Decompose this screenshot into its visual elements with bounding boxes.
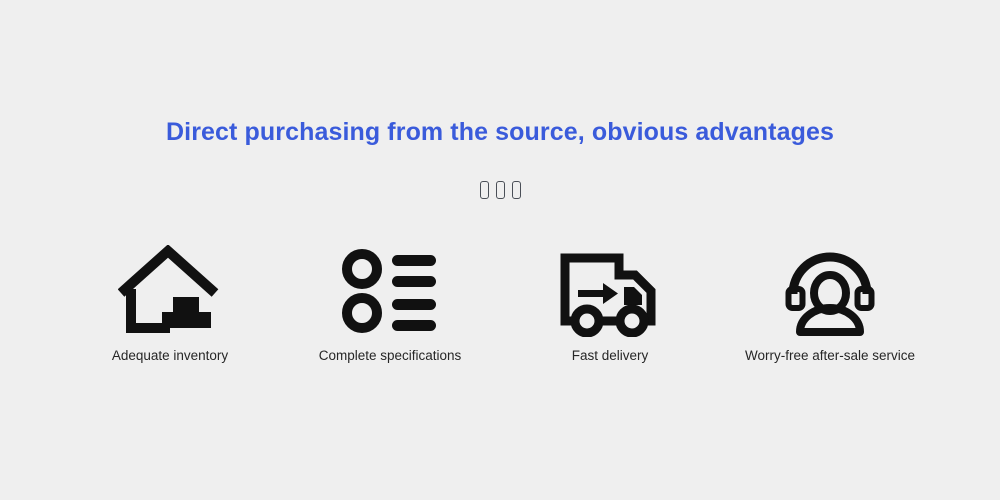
feature-list: Adequate inventory Complete specific: [60, 243, 940, 365]
feature-label-service: Worry-free after-sale service: [745, 347, 915, 365]
warehouse-icon: [118, 243, 222, 338]
specifications-list-icon: [340, 243, 440, 338]
divider-pill-2: [496, 181, 505, 199]
feature-item-delivery: Fast delivery: [500, 243, 720, 365]
page-title: Direct purchasing from the source, obvio…: [0, 116, 1000, 148]
feature-label-inventory: Adequate inventory: [112, 347, 228, 365]
feature-label-specifications: Complete specifications: [319, 347, 462, 365]
divider-pill-3: [512, 181, 521, 199]
divider-pill-1: [480, 181, 489, 199]
feature-item-specifications: Complete specifications: [280, 243, 500, 365]
feature-label-delivery: Fast delivery: [572, 347, 649, 365]
delivery-truck-icon: [556, 243, 664, 338]
feature-item-inventory: Adequate inventory: [60, 243, 280, 365]
three-pill-divider: [0, 181, 1000, 199]
customer-service-headset-icon: [782, 243, 878, 338]
promo-banner: Direct purchasing from the source, obvio…: [0, 0, 1000, 500]
feature-item-service: Worry-free after-sale service: [720, 243, 940, 365]
